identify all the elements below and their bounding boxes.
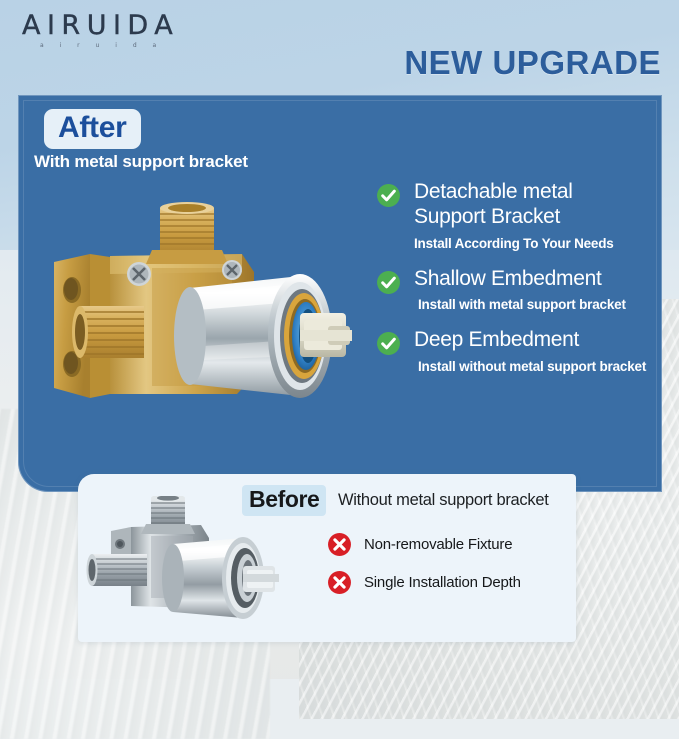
- before-badge-subtitle: Without metal support bracket: [338, 491, 548, 510]
- con-item: Non-removable Fixture: [324, 536, 574, 553]
- feature-subtitle: Install According To Your Needs: [414, 236, 654, 251]
- feature-title-line2: Support Bracket: [414, 205, 654, 230]
- brand-logo-subtext: a i r u i d a: [40, 42, 197, 49]
- brand-logo-wordmark: AIRUIDA: [22, 12, 197, 39]
- after-badge-subtitle: With metal support bracket: [34, 152, 248, 172]
- before-cons-list: Non-removable Fixture Single Installatio…: [324, 536, 574, 612]
- brand-logo: AIRUIDA a i r u i d a: [22, 12, 197, 49]
- before-card: Before Without metal support bracket: [78, 474, 576, 642]
- after-feature-list: Detachable metal Support Bracket Install…: [374, 180, 654, 390]
- feature-title-line1: Shallow Embedment: [414, 267, 654, 292]
- page-header: AIRUIDA a i r u i d a NEW UPGRADE: [0, 0, 679, 95]
- con-item: Single Installation Depth: [324, 574, 574, 591]
- after-product-image: [32, 198, 362, 420]
- con-text: Single Installation Depth: [364, 574, 574, 591]
- con-text: Non-removable Fixture: [364, 536, 574, 553]
- feature-item: Shallow Embedment Install with metal sup…: [374, 267, 654, 313]
- before-product-image: [85, 496, 300, 636]
- feature-title-line1: Deep Embedment: [414, 328, 654, 353]
- feature-subtitle: Install without metal support bracket: [418, 359, 654, 374]
- feature-item: Detachable metal Support Bracket Install…: [374, 180, 654, 251]
- page-title: NEW UPGRADE: [404, 44, 661, 82]
- after-badge: After: [44, 109, 141, 149]
- red-x-icon: [327, 570, 352, 595]
- green-check-icon: [376, 331, 401, 356]
- after-panel: After With metal support bracket: [18, 95, 662, 492]
- red-x-icon: [327, 532, 352, 557]
- green-check-icon: [376, 270, 401, 295]
- feature-item: Deep Embedment Install without metal sup…: [374, 328, 654, 374]
- feature-subtitle: Install with metal support bracket: [418, 297, 654, 312]
- green-check-icon: [376, 183, 401, 208]
- feature-title-line1: Detachable metal: [414, 180, 654, 205]
